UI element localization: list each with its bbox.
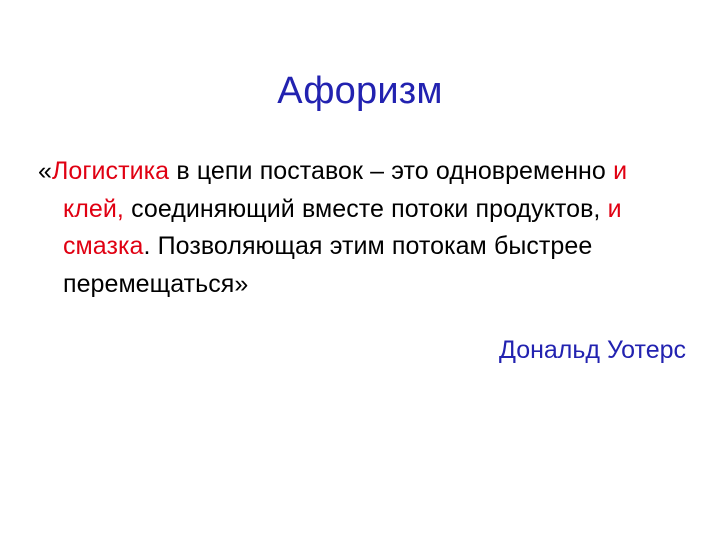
quote-paragraph: «Логистика в цепи поставок – это одновре… [38,153,663,303]
slide-canvas: Афоризм «Логистика в цепи поставок – это… [0,0,720,540]
quote-attribution: Дональд Уотерс [38,332,686,370]
quote-text-segment-1: в цепи поставок – это одновременно [169,157,613,185]
quote-text-segment-2: соединяющий вместе потоки продуктов, [124,195,608,223]
quote-open-mark: « [38,157,52,185]
quote-highlight-logistika: Логистика [52,157,169,185]
page-title: Афоризм [0,69,720,113]
quote-text-segment-3: . Позволяющая этим потокам быстрее перем… [63,232,592,298]
